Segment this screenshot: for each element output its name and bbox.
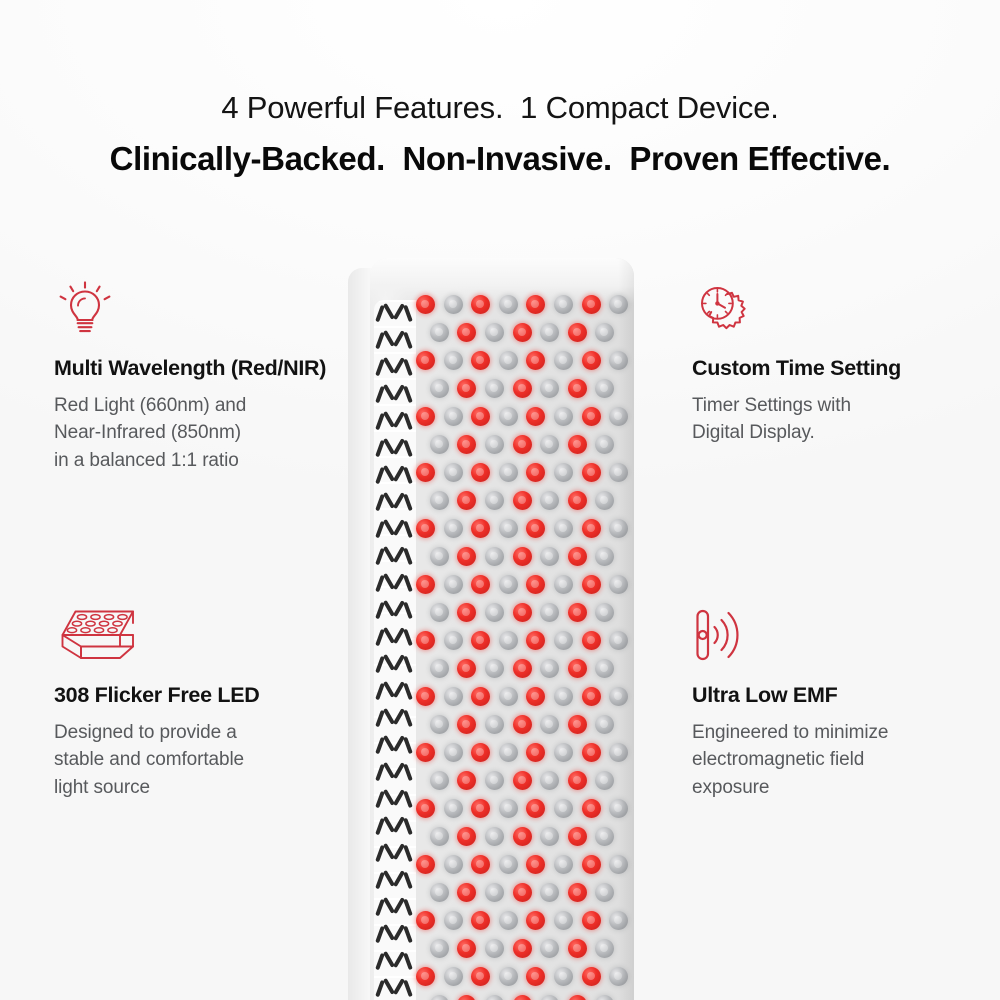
led-nir: [595, 995, 614, 1000]
vent-slot: [375, 575, 384, 592]
led-nir: [540, 323, 559, 342]
led-red: [582, 575, 601, 594]
led-nir: [499, 631, 518, 650]
led-nir: [540, 379, 559, 398]
vent-slot: [403, 791, 412, 808]
led-red: [416, 967, 435, 986]
led-nir: [430, 379, 449, 398]
vent-row: [374, 678, 416, 705]
led-nir: [430, 547, 449, 566]
led-red: [582, 351, 601, 370]
led-row: [416, 404, 634, 432]
led-red: [582, 967, 601, 986]
led-red: [526, 799, 545, 818]
vent-slot: [403, 575, 412, 592]
vent-slot: [375, 872, 384, 889]
led-nir: [485, 603, 504, 622]
led-red: [416, 743, 435, 762]
led-red: [568, 939, 587, 958]
led-nir: [595, 827, 614, 846]
led-red: [513, 491, 532, 510]
led-nir: [609, 519, 628, 538]
led-row: [416, 712, 634, 740]
led-red: [457, 771, 476, 790]
feature-multi-wavelength: Multi Wavelength (Red/NIR) Red Light (66…: [54, 278, 354, 474]
led-red: [568, 659, 587, 678]
vent-slot: [375, 386, 384, 403]
vent-slot: [403, 737, 412, 754]
led-red: [513, 771, 532, 790]
vent-slot: [403, 494, 412, 511]
led-red: [471, 463, 490, 482]
led-nir: [540, 939, 559, 958]
led-nir: [554, 911, 573, 930]
led-red: [526, 687, 545, 706]
led-nir: [609, 799, 628, 818]
led-nir: [485, 715, 504, 734]
led-red: [416, 575, 435, 594]
led-nir: [540, 603, 559, 622]
led-nir: [485, 659, 504, 678]
led-row: [416, 348, 634, 376]
led-red: [513, 323, 532, 342]
led-nir: [499, 575, 518, 594]
led-nir: [444, 519, 463, 538]
headline-line-2: Clinically-Backed. Non-Invasive. Proven …: [0, 137, 1000, 181]
led-row: [416, 768, 634, 796]
led-nir: [554, 967, 573, 986]
led-red: [457, 323, 476, 342]
led-nir: [444, 911, 463, 930]
vent-row: [374, 381, 416, 408]
led-nir: [485, 491, 504, 510]
feature-title: Custom Time Setting: [692, 354, 992, 384]
led-nir: [609, 407, 628, 426]
led-nir: [595, 323, 614, 342]
vent-slot: [375, 926, 384, 943]
led-nir: [554, 631, 573, 650]
vent-row: [374, 948, 416, 975]
led-red: [568, 883, 587, 902]
led-red: [471, 855, 490, 874]
vent-row: [374, 354, 416, 381]
vent-slot: [375, 953, 384, 970]
clock-gear-icon: [692, 278, 992, 340]
led-nir: [444, 687, 463, 706]
led-nir: [499, 519, 518, 538]
vent-slot: [403, 359, 412, 376]
led-red: [457, 435, 476, 454]
headline-line-1: 4 Powerful Features. 1 Compact Device.: [0, 88, 1000, 129]
led-red: [568, 715, 587, 734]
led-nir: [609, 631, 628, 650]
vent-slot: [375, 440, 384, 457]
vent-row: [374, 786, 416, 813]
led-nir: [444, 743, 463, 762]
vent-row: [374, 408, 416, 435]
led-red: [568, 547, 587, 566]
vent-slot: [375, 332, 384, 349]
vent-slot: [403, 764, 412, 781]
led-red: [582, 799, 601, 818]
vent-slot: [403, 332, 412, 349]
headline-block: 4 Powerful Features. 1 Compact Device. C…: [0, 88, 1000, 180]
led-red: [416, 631, 435, 650]
led-nir: [554, 855, 573, 874]
led-red: [526, 519, 545, 538]
vent-slot: [375, 548, 384, 565]
led-nir: [485, 323, 504, 342]
led-nir: [430, 939, 449, 958]
led-nir: [554, 799, 573, 818]
led-red: [471, 631, 490, 650]
vent-slot: [375, 656, 384, 673]
led-nir: [485, 939, 504, 958]
led-red: [457, 939, 476, 958]
vent-row: [374, 327, 416, 354]
led-nir: [554, 407, 573, 426]
lightbulb-icon: [54, 278, 354, 340]
device-front-face: [370, 258, 634, 1000]
vent-slot: [403, 845, 412, 862]
led-red: [416, 351, 435, 370]
led-row: [416, 460, 634, 488]
led-nir: [444, 799, 463, 818]
vent-slot: [403, 386, 412, 403]
led-row: [416, 656, 634, 684]
led-red: [416, 519, 435, 538]
vent-row: [374, 759, 416, 786]
led-red: [513, 659, 532, 678]
led-nir: [609, 967, 628, 986]
led-row: [416, 684, 634, 712]
led-row: [416, 628, 634, 656]
led-red: [513, 379, 532, 398]
vent-row: [374, 894, 416, 921]
led-red: [471, 575, 490, 594]
led-row: [416, 740, 634, 768]
led-red: [568, 379, 587, 398]
led-red: [416, 687, 435, 706]
led-nir: [444, 463, 463, 482]
led-nir: [444, 351, 463, 370]
vent-slot: [375, 899, 384, 916]
led-nir: [554, 295, 573, 314]
led-red: [471, 351, 490, 370]
vent-slot: [375, 980, 384, 997]
red-light-therapy-panel: [348, 258, 634, 1000]
vent-slot: [403, 602, 412, 619]
led-nir: [540, 883, 559, 902]
led-nir: [444, 967, 463, 986]
led-red: [582, 743, 601, 762]
vent-slot: [403, 413, 412, 430]
led-red: [457, 379, 476, 398]
vent-slot: [403, 926, 412, 943]
led-nir: [609, 855, 628, 874]
vent-slot: [375, 764, 384, 781]
led-nir: [609, 463, 628, 482]
led-nir: [430, 995, 449, 1000]
feature-title: Ultra Low EMF: [692, 681, 992, 711]
feature-description: Timer Settings with Digital Display.: [692, 392, 992, 447]
led-row: [416, 292, 634, 320]
led-red: [526, 967, 545, 986]
led-red: [457, 715, 476, 734]
led-nir: [430, 715, 449, 734]
led-red: [471, 799, 490, 818]
led-nir: [554, 519, 573, 538]
vent-row: [374, 840, 416, 867]
led-nir: [554, 351, 573, 370]
vent-slot: [403, 467, 412, 484]
led-red: [471, 743, 490, 762]
led-nir: [499, 799, 518, 818]
vent-slot: [375, 305, 384, 322]
led-row: [416, 516, 634, 544]
led-red: [457, 603, 476, 622]
vent-slot: [403, 980, 412, 997]
led-nir: [609, 743, 628, 762]
vent-row: [374, 462, 416, 489]
led-nir: [540, 491, 559, 510]
led-red: [568, 323, 587, 342]
led-nir: [595, 715, 614, 734]
led-nir: [499, 967, 518, 986]
led-red: [526, 295, 545, 314]
vent-slot: [403, 710, 412, 727]
vent-slot: [375, 494, 384, 511]
vent-row: [374, 705, 416, 732]
led-nir: [609, 575, 628, 594]
led-red: [526, 743, 545, 762]
led-red: [526, 351, 545, 370]
led-red: [513, 603, 532, 622]
led-nir: [430, 491, 449, 510]
led-nir: [554, 743, 573, 762]
ventilation-grille: [374, 300, 416, 1000]
led-nir: [595, 939, 614, 958]
led-red: [582, 687, 601, 706]
vent-slot: [403, 953, 412, 970]
led-nir: [499, 463, 518, 482]
led-nir: [609, 687, 628, 706]
vent-slot: [375, 845, 384, 862]
vent-row: [374, 543, 416, 570]
led-nir: [595, 883, 614, 902]
led-red: [416, 911, 435, 930]
led-nir: [540, 659, 559, 678]
led-red: [513, 715, 532, 734]
led-red: [582, 463, 601, 482]
led-nir: [595, 659, 614, 678]
led-nir: [444, 575, 463, 594]
led-red: [513, 827, 532, 846]
feature-custom-time-setting: Custom Time Setting Timer Settings with …: [692, 278, 992, 447]
vent-slot: [375, 683, 384, 700]
led-red: [526, 855, 545, 874]
led-red: [471, 911, 490, 930]
led-nir: [540, 547, 559, 566]
vent-slot: [375, 602, 384, 619]
led-nir: [595, 771, 614, 790]
led-red: [526, 631, 545, 650]
led-row: [416, 992, 634, 1000]
led-nir: [540, 715, 559, 734]
vent-slot: [403, 548, 412, 565]
vent-slot: [375, 413, 384, 430]
vent-slot: [403, 521, 412, 538]
vent-slot: [403, 899, 412, 916]
vent-row: [374, 732, 416, 759]
vent-slot: [403, 872, 412, 889]
led-nir: [540, 827, 559, 846]
vent-slot: [403, 656, 412, 673]
vent-slot: [375, 521, 384, 538]
led-nir: [499, 407, 518, 426]
vent-row: [374, 651, 416, 678]
led-row: [416, 432, 634, 460]
led-nir: [499, 855, 518, 874]
led-row: [416, 852, 634, 880]
led-nir: [485, 827, 504, 846]
led-nir: [554, 575, 573, 594]
vent-row: [374, 435, 416, 462]
led-red: [568, 491, 587, 510]
led-row: [416, 600, 634, 628]
led-red: [471, 519, 490, 538]
vent-row: [374, 597, 416, 624]
led-red: [416, 407, 435, 426]
vent-slot: [403, 440, 412, 457]
vent-row: [374, 570, 416, 597]
led-red: [416, 855, 435, 874]
led-red: [457, 995, 476, 1000]
feature-title: 308 Flicker Free LED: [54, 681, 354, 711]
vent-row: [374, 516, 416, 543]
led-nir: [430, 827, 449, 846]
led-red: [457, 827, 476, 846]
led-row: [416, 376, 634, 404]
led-red: [457, 883, 476, 902]
led-nir: [499, 743, 518, 762]
led-red: [526, 575, 545, 594]
led-nir: [430, 659, 449, 678]
led-row: [416, 880, 634, 908]
led-nir: [430, 323, 449, 342]
led-nir: [444, 407, 463, 426]
led-red: [568, 603, 587, 622]
led-grid: [416, 292, 634, 1000]
led-nir: [609, 295, 628, 314]
led-nir: [485, 883, 504, 902]
feature-title: Multi Wavelength (Red/NIR): [54, 354, 354, 384]
led-nir: [430, 435, 449, 454]
led-nir: [595, 603, 614, 622]
led-row: [416, 488, 634, 516]
led-red: [513, 435, 532, 454]
led-nir: [595, 547, 614, 566]
led-nir: [499, 351, 518, 370]
led-red: [416, 463, 435, 482]
led-nir: [485, 435, 504, 454]
led-nir: [444, 855, 463, 874]
vent-row: [374, 867, 416, 894]
led-red: [582, 631, 601, 650]
led-red: [471, 687, 490, 706]
vent-row: [374, 813, 416, 840]
vent-slot: [375, 467, 384, 484]
led-red: [582, 855, 601, 874]
vent-slot: [403, 305, 412, 322]
led-red: [568, 771, 587, 790]
led-nir: [540, 435, 559, 454]
led-red: [416, 799, 435, 818]
vent-slot: [375, 737, 384, 754]
led-red: [568, 435, 587, 454]
led-row: [416, 572, 634, 600]
led-red: [416, 295, 435, 314]
led-nir: [485, 771, 504, 790]
led-red: [513, 883, 532, 902]
vent-row: [374, 489, 416, 516]
led-nir: [444, 295, 463, 314]
led-red: [568, 827, 587, 846]
led-row: [416, 936, 634, 964]
vent-slot: [375, 629, 384, 646]
led-nir: [609, 351, 628, 370]
vent-row: [374, 975, 416, 1000]
led-nir: [554, 463, 573, 482]
led-red: [568, 995, 587, 1000]
led-nir: [430, 771, 449, 790]
led-row: [416, 908, 634, 936]
led-red: [457, 547, 476, 566]
led-panel-icon: [54, 605, 354, 667]
led-nir: [540, 995, 559, 1000]
led-nir: [444, 631, 463, 650]
led-nir: [595, 435, 614, 454]
led-nir: [595, 491, 614, 510]
vent-row: [374, 300, 416, 327]
vent-slot: [375, 791, 384, 808]
feature-description: Engineered to minimize electromagnetic f…: [692, 719, 992, 802]
led-nir: [430, 603, 449, 622]
feature-flicker-free-led: 308 Flicker Free LED Designed to provide…: [54, 605, 354, 801]
emf-wave-icon: [692, 605, 992, 667]
led-nir: [430, 883, 449, 902]
vent-row: [374, 624, 416, 651]
led-nir: [609, 911, 628, 930]
led-nir: [485, 995, 504, 1000]
led-red: [513, 939, 532, 958]
led-red: [513, 547, 532, 566]
led-red: [526, 911, 545, 930]
led-row: [416, 824, 634, 852]
led-red: [513, 995, 532, 1000]
feature-description: Designed to provide a stable and comfort…: [54, 719, 354, 802]
led-nir: [499, 295, 518, 314]
led-row: [416, 320, 634, 348]
vent-row: [374, 921, 416, 948]
led-row: [416, 964, 634, 992]
led-nir: [499, 687, 518, 706]
led-red: [582, 911, 601, 930]
led-nir: [595, 379, 614, 398]
vent-slot: [403, 683, 412, 700]
vent-slot: [375, 818, 384, 835]
led-nir: [485, 547, 504, 566]
